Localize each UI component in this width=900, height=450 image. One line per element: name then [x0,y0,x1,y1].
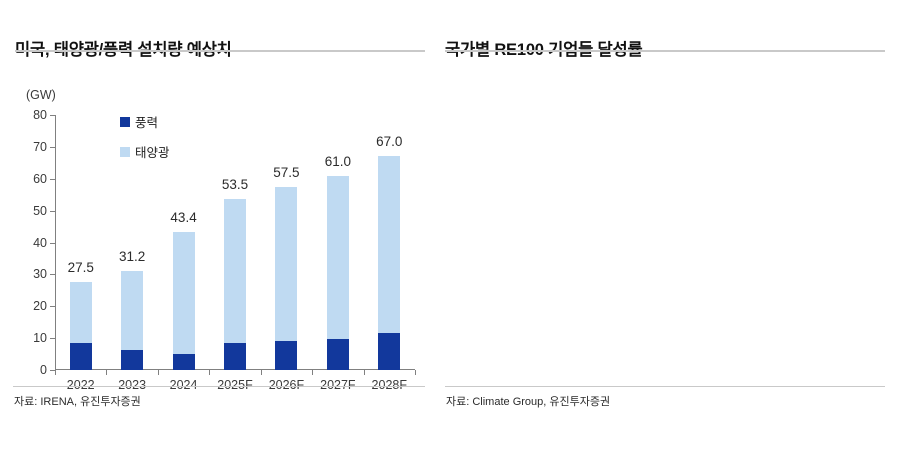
left-y-tick-label: 10 [9,331,47,345]
left-x-category-label: 2026F [269,378,304,392]
right-chart-panel: 국가별 RE100 기업들 달성률 0%20%40%60%80%100%88%독… [440,0,900,450]
left-bar-segment-solar [275,187,297,341]
left-y-tick-label: 80 [9,108,47,122]
left-bar-value-label: 57.5 [273,165,299,180]
left-bar-value-label: 27.5 [68,260,94,275]
left-y-tick-mark [50,243,55,244]
left-y-tick-label: 70 [9,140,47,154]
left-x-category-label: 2028F [372,378,407,392]
left-y-tick-mark [50,179,55,180]
left-panel-title: 미국, 태양광/풍력 설치량 예상치 [15,36,232,60]
right-y-tick-label: 80% [895,133,900,147]
left-chart-plot-area: 0102030405060708027.5202231.2202343.4202… [55,115,415,370]
left-axis-unit-label: (GW) [26,88,56,102]
left-y-tick-mark [50,338,55,339]
left-y-axis [55,115,56,370]
left-bar-segment-solar [173,232,195,354]
left-footer-divider [13,386,425,387]
left-x-category-label: 2025F [217,378,252,392]
left-bar-segment-wind [70,343,92,370]
right-y-tick-label: 20% [895,244,900,258]
right-y-tick-label: 0% [895,281,900,295]
left-bar-segment-wind [224,343,246,370]
left-y-tick-mark [50,274,55,275]
left-x-tick-mark [415,370,416,375]
left-bar-segment-wind [275,341,297,370]
left-bar-value-label: 67.0 [376,134,402,149]
left-x-category-label: 2023 [118,378,146,392]
left-bar-2022 [70,282,92,370]
left-title-divider [15,50,425,52]
right-y-tick-label: 100% [895,96,900,110]
left-y-tick-label: 50 [9,204,47,218]
left-bar-segment-wind [121,350,143,370]
left-x-tick-mark [261,370,262,375]
left-x-tick-mark [106,370,107,375]
left-bar-2026F [275,187,297,370]
left-bar-2025F [224,199,246,370]
left-x-category-label: 2024 [170,378,198,392]
left-bar-segment-solar [224,199,246,342]
left-bar-2024 [173,232,195,370]
right-title-divider [445,50,885,52]
left-y-tick-label: 40 [9,236,47,250]
left-bar-value-label: 43.4 [170,210,196,225]
left-y-tick-mark [50,115,55,116]
left-bar-segment-wind [173,354,195,370]
left-y-tick-label: 60 [9,172,47,186]
left-bar-segment-solar [378,156,400,332]
right-panel-title: 국가별 RE100 기업들 달성률 [445,36,642,60]
left-x-tick-mark [312,370,313,375]
left-bar-value-label: 31.2 [119,249,145,264]
left-y-tick-label: 0 [9,363,47,377]
left-x-tick-mark [364,370,365,375]
right-footer-divider [445,386,885,387]
left-bar-value-label: 53.5 [222,177,248,192]
left-bar-2028F [378,156,400,370]
left-x-category-label: 2022 [67,378,95,392]
left-x-tick-mark [55,370,56,375]
left-bar-2023 [121,271,143,370]
left-bar-segment-solar [70,282,92,343]
right-y-tick-label: 60% [895,170,900,184]
left-y-tick-label: 20 [9,299,47,313]
right-source-note: 자료: Climate Group, 유진투자증권 [446,393,610,409]
right-y-tick-label: 40% [895,207,900,221]
left-bar-segment-wind [378,333,400,370]
left-bar-segment-solar [327,176,349,339]
left-bar-segment-solar [121,271,143,351]
left-y-tick-mark [50,306,55,307]
left-y-tick-mark [50,147,55,148]
left-y-tick-mark [50,211,55,212]
left-x-tick-mark [209,370,210,375]
left-y-tick-label: 30 [9,267,47,281]
report-figure-page: 미국, 태양광/풍력 설치량 예상치 (GW) 풍력태양광 0102030405… [0,0,900,450]
left-source-note: 자료: IRENA, 유진투자증권 [14,393,141,409]
left-x-category-label: 2027F [320,378,355,392]
left-bar-value-label: 61.0 [325,154,351,169]
left-bar-2027F [327,176,349,370]
left-x-tick-mark [158,370,159,375]
left-bar-segment-wind [327,339,349,370]
left-chart-panel: 미국, 태양광/풍력 설치량 예상치 (GW) 풍력태양광 0102030405… [0,0,440,450]
